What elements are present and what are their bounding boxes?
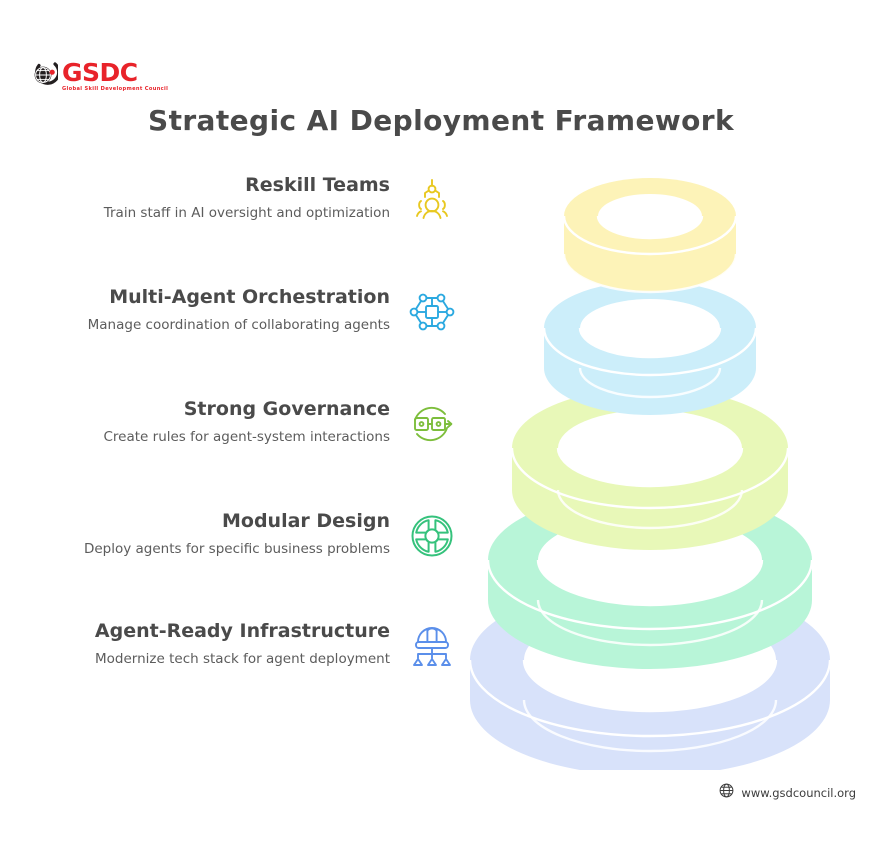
- footer: www.gsdcouncil.org: [719, 783, 856, 802]
- globe-icon: [32, 61, 58, 91]
- step-description: Train staff in AI oversight and optimiza…: [60, 204, 390, 224]
- step-description: Manage coordination of collaborating age…: [60, 316, 390, 336]
- network-nodes-icon: [404, 272, 460, 340]
- ring-stack-graphic: [440, 160, 860, 770]
- ring-layer-1: [564, 178, 736, 292]
- step-item-strong-governance[interactable]: Strong Governance Create rules for agent…: [0, 384, 460, 452]
- brand-wordmark: GSDC: [62, 60, 138, 85]
- page-title: Strategic AI Deployment Framework: [0, 104, 882, 137]
- ring-layer-2: [544, 281, 756, 415]
- step-description: Modernize tech stack for agent deploymen…: [60, 650, 390, 670]
- globe-icon: [719, 783, 734, 802]
- step-item-reskill-teams[interactable]: Reskill Teams Train staff in AI oversigh…: [0, 160, 460, 228]
- step-title: Reskill Teams: [60, 174, 390, 197]
- step-title: Agent-Ready Infrastructure: [60, 620, 390, 643]
- hard-hat-hierarchy-icon: [404, 606, 460, 674]
- process-flow-icon: [404, 384, 460, 452]
- footer-url: www.gsdcouncil.org: [741, 786, 856, 800]
- step-title: Strong Governance: [60, 398, 390, 421]
- step-title: Modular Design: [60, 510, 390, 533]
- step-item-multi-agent-orchestration[interactable]: Multi-Agent Orchestration Manage coordin…: [0, 272, 460, 340]
- brand-logo: GSDC Global Skill Development Council: [32, 60, 168, 92]
- step-item-agent-ready-infrastructure[interactable]: Agent-Ready Infrastructure Modernize tec…: [0, 606, 460, 674]
- step-description: Deploy agents for specific business prob…: [60, 540, 390, 560]
- brand-tagline: Global Skill Development Council: [62, 87, 168, 92]
- step-title: Multi-Agent Orchestration: [60, 286, 390, 309]
- modular-wheel-icon: [404, 496, 460, 564]
- people-group-icon: [404, 160, 460, 228]
- steps-list: Reskill Teams Train staff in AI oversigh…: [0, 160, 460, 674]
- step-item-modular-design[interactable]: Modular Design Deploy agents for specifi…: [0, 496, 460, 564]
- step-description: Create rules for agent-system interactio…: [60, 428, 390, 448]
